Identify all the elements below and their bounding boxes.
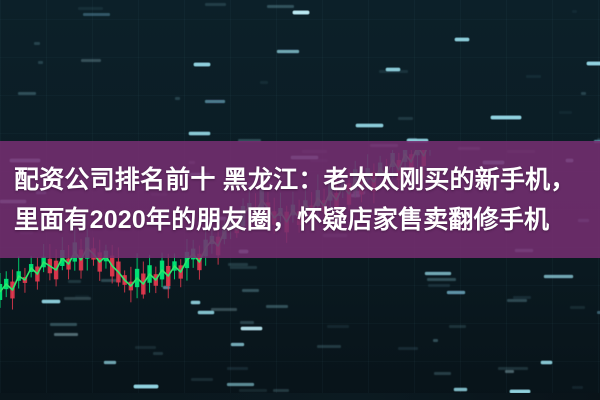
headline-line-1: 配资公司排名前十 黑龙江：老太太刚买的新手机， xyxy=(14,160,600,200)
banner-image: 配资公司排名前十 黑龙江：老太太刚买的新手机， 里面有2020年的朋友圈，怀疑店… xyxy=(0,0,600,400)
headline: 配资公司排名前十 黑龙江：老太太刚买的新手机， 里面有2020年的朋友圈，怀疑店… xyxy=(0,141,600,258)
bottom-strip xyxy=(0,393,600,400)
headline-line-2: 里面有2020年的朋友圈，怀疑店家售卖翻修手机 xyxy=(14,200,600,240)
